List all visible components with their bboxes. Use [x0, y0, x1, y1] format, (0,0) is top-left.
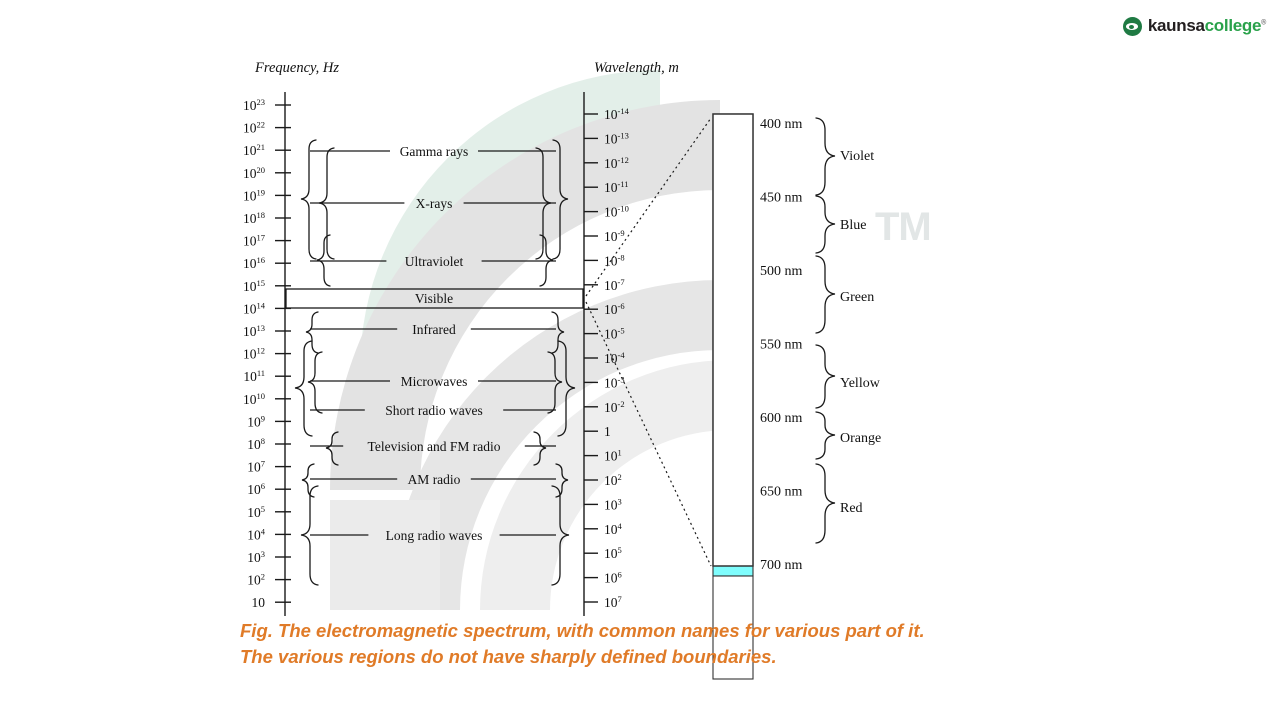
frequency-tick-label: 1023 — [243, 97, 265, 113]
caption-line-1: Fig. The electromagnetic spectrum, with … — [240, 618, 1120, 644]
wavelength-tick-label: 105 — [604, 545, 622, 561]
color-name-label: Orange — [840, 431, 881, 446]
band-label: Gamma rays — [400, 144, 469, 159]
band-label: Visible — [415, 291, 453, 306]
nm-label: 400 nm — [760, 117, 803, 132]
visible-bar-frame — [713, 114, 753, 566]
color-name-label: Violet — [840, 149, 874, 164]
wavelength-nm-labels: 400 nm450 nm500 nm550 nm600 nm650 nm700 … — [760, 117, 803, 573]
nm-label: 700 nm — [760, 558, 803, 573]
frequency-tick-label: 1019 — [243, 187, 265, 203]
color-brace-group — [816, 118, 835, 543]
frequency-tick-label: 105 — [247, 504, 265, 520]
wavelength-tick-label: 10-3 — [604, 374, 625, 390]
wavelength-axis-title: Wavelength, m — [594, 60, 679, 76]
wavelength-tick-label: 106 — [604, 570, 622, 586]
wavelength-tick-label: 10-5 — [604, 326, 625, 342]
frequency-tick-label: 102 — [247, 572, 265, 588]
frequency-tick-label: 1010 — [243, 391, 265, 407]
frequency-tick-label: 1016 — [243, 255, 265, 271]
wavelength-tick-label: 10-11 — [604, 179, 629, 195]
wavelength-tick-label: 104 — [604, 521, 623, 537]
frequency-tick-label: 1011 — [243, 368, 265, 384]
band-label: Long radio waves — [386, 528, 483, 543]
nm-label: 650 nm — [760, 485, 803, 500]
figure-caption: Fig. The electromagnetic spectrum, with … — [240, 618, 1120, 670]
band-label: Microwaves — [401, 374, 468, 389]
wavelength-tick-label: 10-6 — [604, 301, 625, 317]
nm-label: 550 nm — [760, 338, 803, 353]
color-name-label: Blue — [840, 218, 866, 233]
color-name-labels: VioletBlueGreenYellowOrangeRed — [840, 149, 881, 516]
wavelength-tick-label: 101 — [604, 448, 622, 464]
frequency-tick-label: 104 — [247, 526, 266, 542]
left-brace-group — [295, 140, 338, 585]
wavelength-tick-label: 102 — [604, 472, 622, 488]
frequency-axis-ticks — [275, 105, 291, 602]
color-name-label: Green — [840, 290, 874, 305]
frequency-tick-label: 107 — [247, 459, 265, 475]
frequency-tick-label: 109 — [247, 413, 265, 429]
wavelength-tick-label: 1 — [604, 424, 611, 439]
wavelength-tick-label: 10-7 — [604, 277, 625, 293]
band-label: Infrared — [412, 322, 456, 337]
frequency-tick-label: 1014 — [243, 300, 266, 316]
band-label: AM radio — [408, 472, 461, 487]
frequency-tick-label: 1015 — [243, 278, 265, 294]
slide-root: kaunsacollege® TM Frequency, Hz Waveleng… — [0, 0, 1280, 720]
frequency-tick-label: 103 — [247, 549, 265, 565]
wavelength-tick-label: 10-10 — [604, 204, 629, 220]
frequency-tick-label: 1021 — [243, 142, 265, 158]
wavelength-axis-ticks — [584, 114, 598, 602]
wavelength-tick-label: 107 — [604, 594, 622, 610]
nm-label: 600 nm — [760, 411, 803, 426]
band-label: Ultraviolet — [405, 254, 464, 269]
frequency-tick-label: 1017 — [243, 233, 265, 249]
frequency-tick-label: 1022 — [243, 120, 265, 136]
wavelength-tick-label: 10-12 — [604, 155, 629, 171]
wavelength-tick-label: 10-14 — [604, 106, 630, 122]
frequency-tick-label: 1018 — [243, 210, 265, 226]
nm-label: 500 nm — [760, 264, 803, 279]
wavelength-axis-tick-labels: 10-1410-1310-1210-1110-1010-910-810-710-… — [604, 106, 630, 610]
caption-line-2: The various regions do not have sharply … — [240, 644, 1120, 670]
frequency-tick-label: 108 — [247, 436, 265, 452]
wavelength-tick-label: 10-13 — [604, 130, 629, 146]
frequency-tick-label: 106 — [247, 481, 265, 497]
frequency-tick-label: 1013 — [243, 323, 265, 339]
right-brace-group — [534, 140, 575, 585]
color-name-label: Yellow — [840, 376, 881, 391]
wavelength-tick-label: 103 — [604, 496, 622, 512]
frequency-tick-label: 10 — [252, 595, 266, 610]
frequency-tick-label: 1012 — [243, 346, 265, 362]
band-labels: Gamma raysX-raysUltravioletVisibleInfrar… — [368, 144, 501, 543]
wavelength-tick-label: 10-9 — [604, 228, 625, 244]
wavelength-tick-label: 10-2 — [604, 399, 625, 415]
band-label: Television and FM radio — [368, 439, 501, 454]
band-label: X-rays — [416, 196, 453, 211]
frequency-axis-title: Frequency, Hz — [254, 60, 339, 76]
electromagnetic-spectrum-figure: Frequency, Hz Wavelength, m 102310221021… — [0, 0, 1280, 720]
frequency-tick-label: 1020 — [243, 165, 265, 181]
band-label: Short radio waves — [385, 403, 482, 418]
frequency-axis-tick-labels: 1023102210211020101910181017101610151014… — [243, 97, 266, 610]
color-name-label: Red — [840, 501, 863, 516]
nm-label: 450 nm — [760, 191, 803, 206]
